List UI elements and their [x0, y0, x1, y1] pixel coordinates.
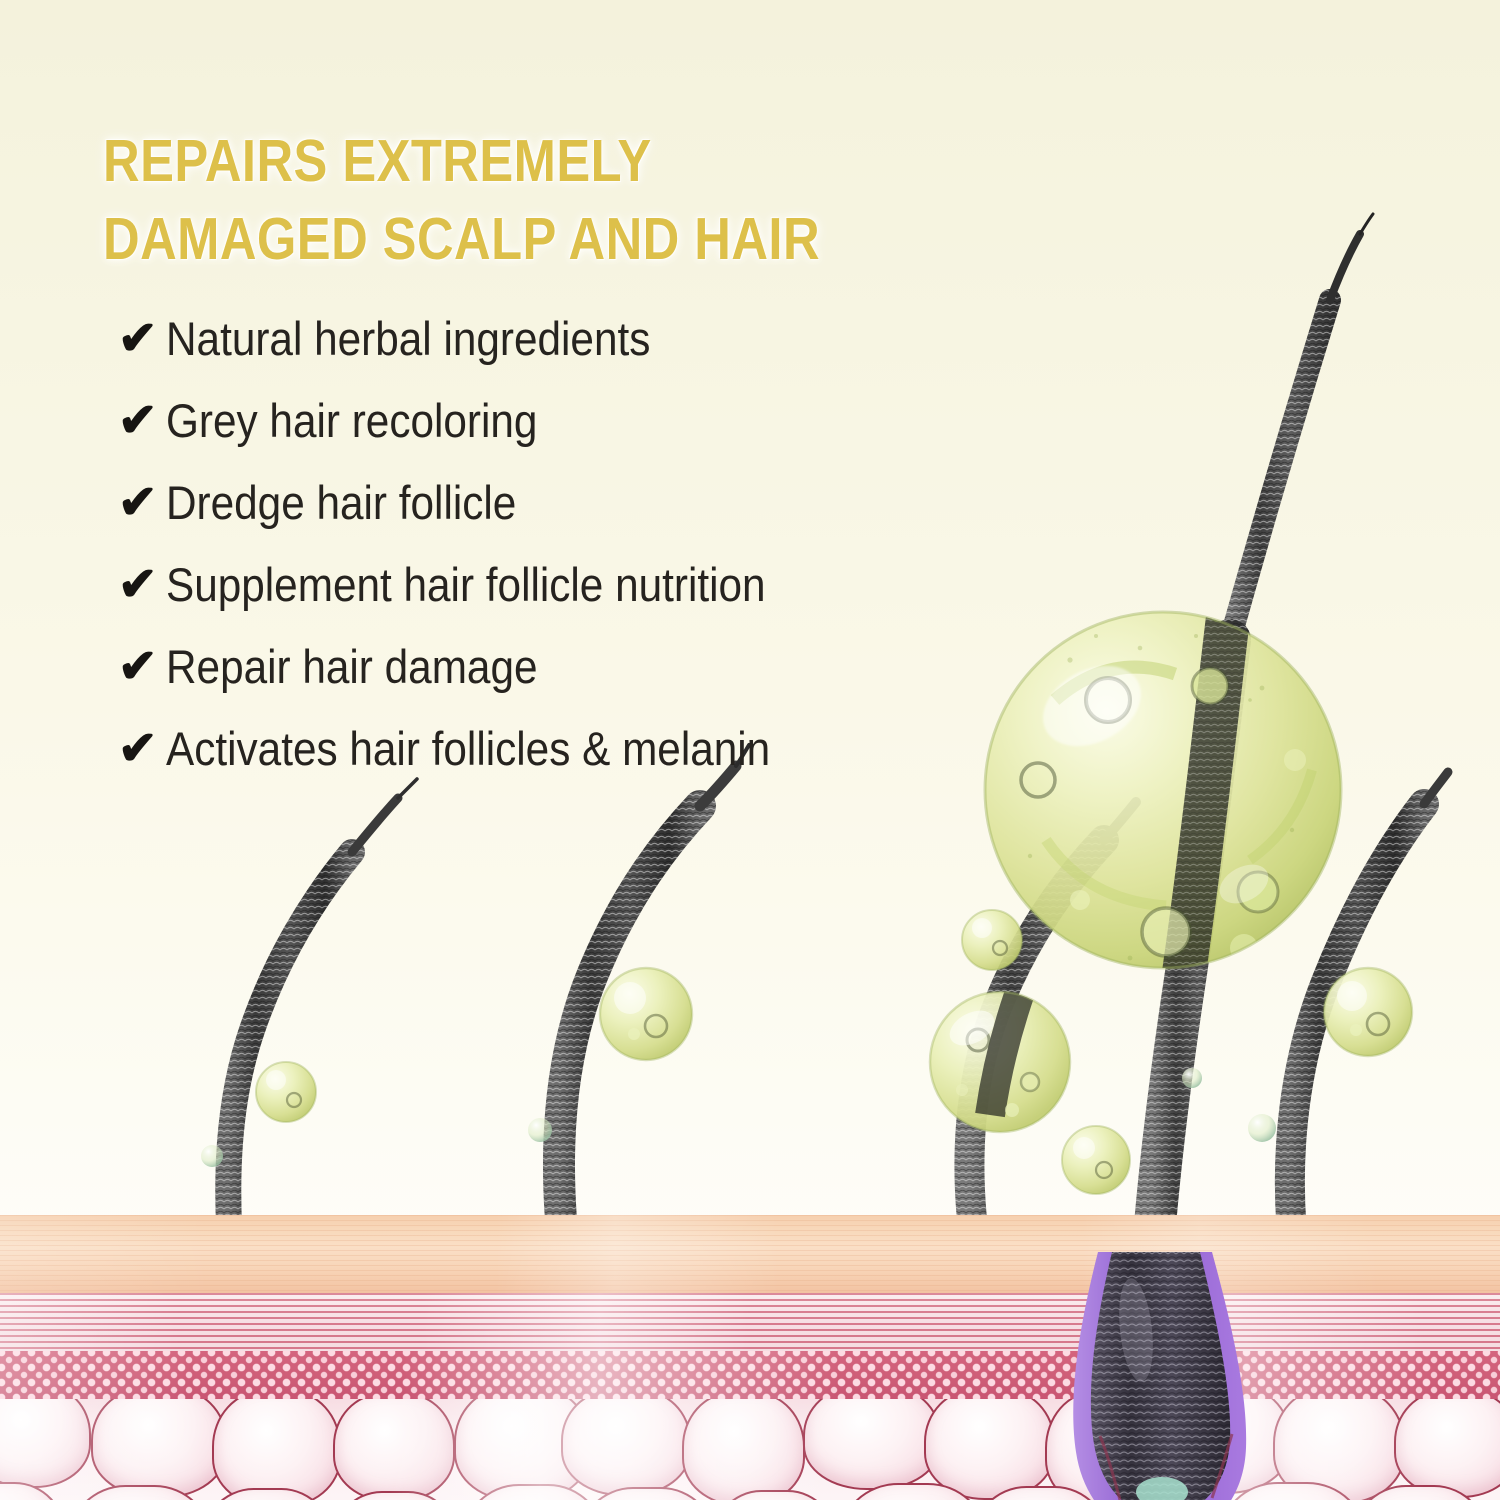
checkmark-icon: ✔	[118, 724, 166, 771]
benefit-item: ✔Repair hair damage	[118, 626, 1118, 708]
benefit-label: Activates hair follicles & melanin	[166, 724, 770, 773]
fat-cell	[329, 1491, 461, 1500]
benefit-item: ✔Dredge hair follicle	[118, 462, 1118, 544]
granular-light-wash	[0, 1351, 1500, 1399]
fat-cell	[0, 1399, 91, 1488]
fat-cell	[1045, 1399, 1169, 1500]
dermis-layer	[0, 1293, 1500, 1351]
fat-cell	[803, 1399, 941, 1490]
fat-cell	[1394, 1399, 1500, 1498]
benefit-label: Grey hair recoloring	[166, 396, 537, 445]
checkmark-icon: ✔	[118, 396, 166, 443]
benefit-label: Natural herbal ingredients	[166, 314, 650, 363]
epidermis-light-wash	[0, 1215, 1500, 1293]
serum-droplet-left-hair	[256, 1062, 316, 1122]
checkmark-icon: ✔	[118, 314, 166, 361]
product-infographic: REPAIRS EXTREMELY DAMAGED SCALP AND HAIR…	[0, 0, 1500, 1500]
fat-cell	[333, 1399, 455, 1500]
benefit-label: Repair hair damage	[166, 642, 538, 691]
fat-cell	[212, 1399, 341, 1500]
benefit-item: ✔Supplement hair follicle nutrition	[118, 544, 1118, 626]
benefit-item: ✔Activates hair follicles & melanin	[118, 708, 1118, 790]
dermis-light-wash	[0, 1293, 1500, 1351]
page-title: REPAIRS EXTREMELY DAMAGED SCALP AND HAIR	[103, 122, 877, 278]
fat-cell	[91, 1399, 227, 1498]
checkmark-icon: ✔	[118, 560, 166, 607]
benefit-item: ✔Natural herbal ingredients	[118, 298, 1118, 380]
fat-cell	[561, 1399, 691, 1496]
benefit-label: Dredge hair follicle	[166, 478, 516, 527]
granular-cell-layer	[0, 1351, 1500, 1399]
epidermis-layer	[0, 1215, 1500, 1293]
hair-strand-left	[228, 779, 417, 1270]
fat-cell	[1152, 1399, 1291, 1494]
serum-droplet-right	[1324, 968, 1412, 1056]
subcutaneous-layer	[0, 1399, 1500, 1500]
benefit-label: Supplement hair follicle nutrition	[166, 560, 766, 609]
benefit-item: ✔Grey hair recoloring	[118, 380, 1118, 462]
skin-cross-section	[0, 1215, 1500, 1500]
checkmark-icon: ✔	[118, 478, 166, 525]
serum-droplet-lower-right-cluster	[1062, 1126, 1130, 1194]
checkmark-icon: ✔	[118, 642, 166, 689]
benefits-list: ✔Natural herbal ingredients✔Grey hair re…	[118, 298, 1118, 790]
serum-droplet-middle-hair	[600, 968, 692, 1060]
fat-cell	[682, 1399, 805, 1500]
serum-droplet-upper-left-cluster	[962, 910, 1022, 970]
